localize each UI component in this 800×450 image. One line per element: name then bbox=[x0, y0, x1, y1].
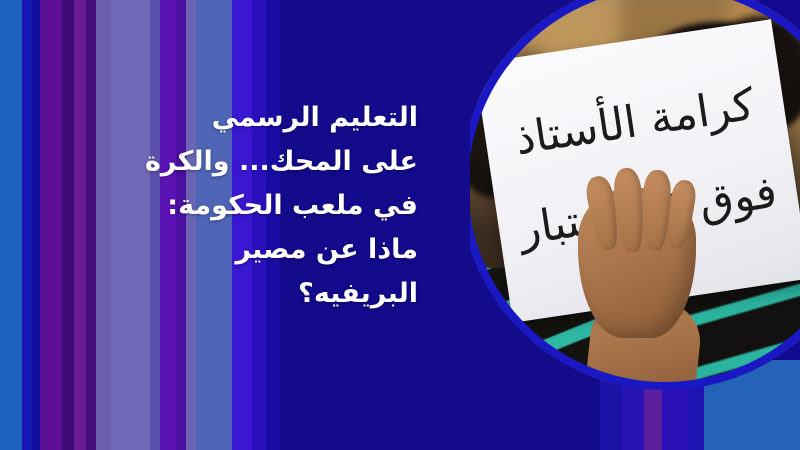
headline-line-1: التعليم الرسمي bbox=[18, 96, 418, 140]
headline-line-4: ماذا عن مصير bbox=[18, 228, 418, 272]
headline-line-3: في ملعب الحكومة: bbox=[18, 184, 418, 228]
news-card: كرامة الأستاذ فوق كل اعتبار التعليم الرس… bbox=[0, 0, 800, 450]
headline: التعليم الرسمي على المحك... والكرة في مل… bbox=[18, 96, 418, 316]
protest-sign-line-1: كرامة الأستاذ bbox=[483, 75, 787, 170]
headline-line-5: البريفيه؟ bbox=[18, 272, 418, 316]
headline-line-2: على المحك... والكرة bbox=[18, 140, 418, 184]
